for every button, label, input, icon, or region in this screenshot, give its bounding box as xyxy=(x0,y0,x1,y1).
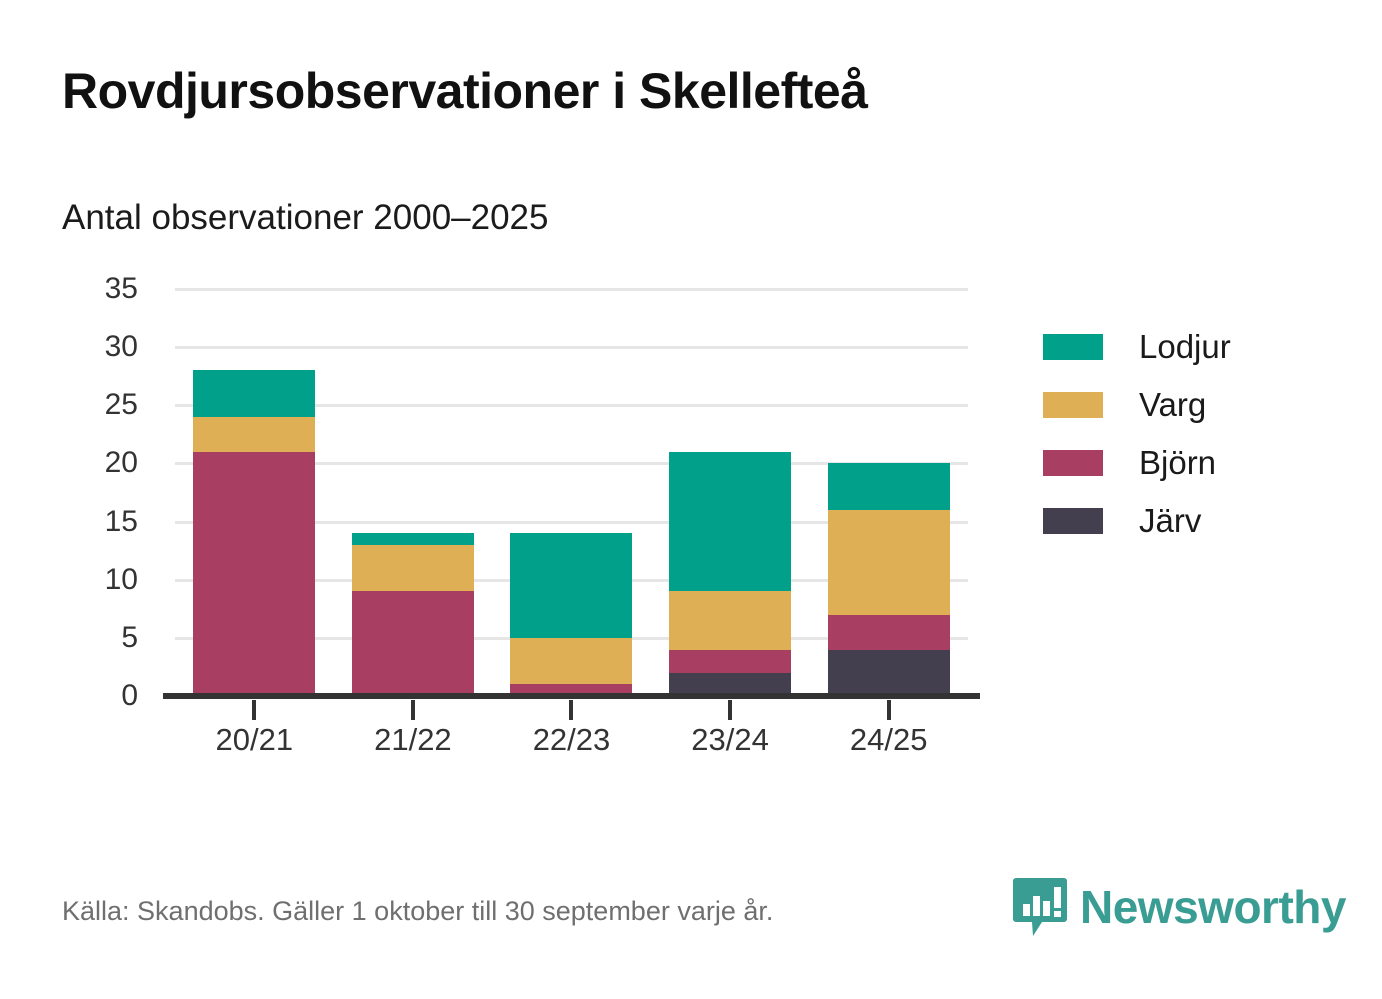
x-axis-tick-label: 20/21 xyxy=(175,722,334,758)
bar-slot xyxy=(175,289,334,696)
bar-segment-varg[interactable] xyxy=(510,638,632,685)
stacked-bar[interactable] xyxy=(352,533,474,696)
legend-label: Varg xyxy=(1139,386,1206,424)
tick-mark xyxy=(411,700,415,720)
y-axis-tick-label: 20 xyxy=(0,446,160,480)
bar-segment-björn[interactable] xyxy=(828,615,950,650)
bar-slot xyxy=(809,289,968,696)
source-note: Källa: Skandobs. Gäller 1 oktober till 3… xyxy=(62,896,773,927)
bar-slot xyxy=(492,289,651,696)
tick-mark xyxy=(887,700,891,720)
x-axis-tick-label: 22/23 xyxy=(492,722,651,758)
x-axis-tick-label: 23/24 xyxy=(651,722,810,758)
newsworthy-logo[interactable]: Newsworthy xyxy=(1012,876,1346,938)
stacked-bar[interactable] xyxy=(510,533,632,696)
tick-mark xyxy=(252,700,256,720)
bar-segment-varg[interactable] xyxy=(193,417,315,452)
bar-segment-lodjur[interactable] xyxy=(193,370,315,417)
speech-bubble-chart-icon xyxy=(1012,876,1068,938)
bar-slot xyxy=(334,289,493,696)
legend-swatch xyxy=(1043,392,1103,418)
stacked-bar[interactable] xyxy=(828,463,950,696)
bar-segment-varg[interactable] xyxy=(352,545,474,592)
y-axis-tick-label: 25 xyxy=(0,388,160,422)
bar-segment-björn[interactable] xyxy=(193,452,315,696)
tick-mark xyxy=(569,700,573,720)
tick-mark xyxy=(728,700,732,720)
bar-slot xyxy=(651,289,810,696)
x-axis-tick xyxy=(651,696,810,722)
y-axis-tick-label: 15 xyxy=(0,505,160,539)
chart-subtitle: Antal observationer 2000–2025 xyxy=(62,198,548,238)
bar-segment-björn[interactable] xyxy=(669,650,791,673)
page-title: Rovdjursobservationer i Skellefteå xyxy=(62,62,868,120)
x-axis-labels: 20/2121/2222/2323/2424/25 xyxy=(175,722,968,758)
x-axis-tick xyxy=(809,696,968,722)
plot-area xyxy=(175,289,968,696)
bar-group xyxy=(175,289,968,696)
legend: LodjurVargBjörnJärv xyxy=(1043,318,1231,550)
bar-segment-lodjur[interactable] xyxy=(669,452,791,592)
legend-swatch xyxy=(1043,334,1103,360)
legend-label: Björn xyxy=(1139,444,1216,482)
bar-segment-varg[interactable] xyxy=(828,510,950,615)
x-axis-tick xyxy=(492,696,651,722)
chart-card: Rovdjursobservationer i Skellefteå Antal… xyxy=(0,0,1382,999)
bar-segment-björn[interactable] xyxy=(352,591,474,696)
legend-item-järv[interactable]: Järv xyxy=(1043,492,1231,550)
legend-label: Järv xyxy=(1139,502,1201,540)
y-axis-tick-label: 0 xyxy=(0,679,160,713)
bar-segment-järv[interactable] xyxy=(828,650,950,697)
bar-segment-lodjur[interactable] xyxy=(510,533,632,638)
y-axis-tick-label: 10 xyxy=(0,563,160,597)
bar-segment-varg[interactable] xyxy=(669,591,791,649)
y-axis-tick-label: 30 xyxy=(0,330,160,364)
y-axis-tick-label: 5 xyxy=(0,621,160,655)
stacked-bar[interactable] xyxy=(669,452,791,696)
x-axis-tick-label: 21/22 xyxy=(334,722,493,758)
x-axis-tick xyxy=(334,696,493,722)
legend-item-lodjur[interactable]: Lodjur xyxy=(1043,318,1231,376)
legend-swatch xyxy=(1043,450,1103,476)
bar-segment-lodjur[interactable] xyxy=(828,463,950,510)
brand-name: Newsworthy xyxy=(1080,884,1346,930)
y-axis-labels: 05101520253035 xyxy=(0,289,160,696)
y-axis-tick-label: 35 xyxy=(0,272,160,306)
bar-segment-lodjur[interactable] xyxy=(352,533,474,545)
legend-item-varg[interactable]: Varg xyxy=(1043,376,1231,434)
x-axis-tick xyxy=(175,696,334,722)
legend-swatch xyxy=(1043,508,1103,534)
legend-item-björn[interactable]: Björn xyxy=(1043,434,1231,492)
legend-label: Lodjur xyxy=(1139,328,1231,366)
stacked-bar[interactable] xyxy=(193,370,315,696)
x-axis-ticks xyxy=(175,696,968,722)
x-axis-tick-label: 24/25 xyxy=(809,722,968,758)
